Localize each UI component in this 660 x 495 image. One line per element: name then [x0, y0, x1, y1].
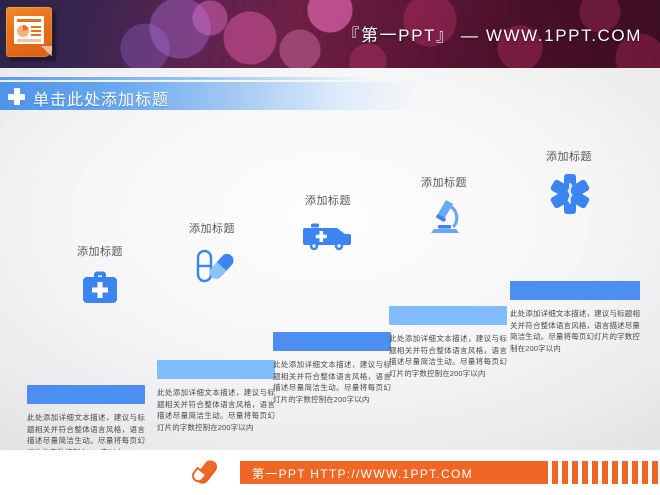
- pills-capsule-icon: [190, 246, 234, 288]
- step-2-body: 此处添加详细文本描述，建议与标题相关并符合整体语言风格，语言描述尽量简洁生动。尽…: [157, 387, 275, 434]
- page-title[interactable]: 单击此处添加标题: [33, 86, 169, 110]
- ambulance-icon: [302, 218, 354, 252]
- brand-text: 『第一PPT』 — WWW.1PPT.COM: [342, 21, 642, 46]
- orange-stripes-icon: [552, 461, 660, 484]
- step-2-bar: [157, 360, 275, 379]
- page-footer: 第一PPT HTTP://WWW.1PPT.COM: [0, 450, 660, 495]
- step-5-body: 此处添加详细文本描述，建议与标题相关并符合整体语言风格，语言描述尽量简洁生动。尽…: [510, 308, 640, 355]
- step-4-bar: [389, 306, 507, 325]
- microscope-icon: [424, 196, 466, 238]
- footer-banner: 第一PPT HTTP://WWW.1PPT.COM: [240, 461, 548, 484]
- title-accent-line: [0, 77, 372, 80]
- footer-banner-text: 第一PPT HTTP://WWW.1PPT.COM: [252, 465, 473, 482]
- step-2-title: 添加标题: [162, 220, 262, 236]
- step-1-title: 添加标题: [50, 243, 150, 259]
- slide-canvas: 单击此处添加标题 添加标题 此处添加详细文本描述，建议与标题相关并符合整体语言风…: [0, 68, 660, 450]
- medical-cross-icon: [8, 88, 25, 105]
- step-5-title: 添加标题: [515, 148, 623, 164]
- step-3-bar: [273, 332, 391, 351]
- capsule-icon: [196, 458, 230, 486]
- step-5-bar: [510, 281, 640, 300]
- step-1-bar: [27, 385, 145, 404]
- step-3-body: 此处添加详细文本描述，建议与标题相关并符合整体语言风格，语言描述尽量简洁生动。尽…: [273, 359, 391, 406]
- page-header: 『第一PPT』 — WWW.1PPT.COM: [0, 0, 660, 68]
- step-4-title: 添加标题: [394, 174, 494, 190]
- powerpoint-icon: [6, 7, 56, 61]
- star-of-life-icon: [548, 172, 592, 216]
- medical-bag-icon: [76, 268, 124, 308]
- step-4-body: 此处添加详细文本描述，建议与标题相关并符合整体语言风格，语言描述尽量简洁生动。尽…: [389, 333, 507, 380]
- step-3-title: 添加标题: [278, 192, 378, 208]
